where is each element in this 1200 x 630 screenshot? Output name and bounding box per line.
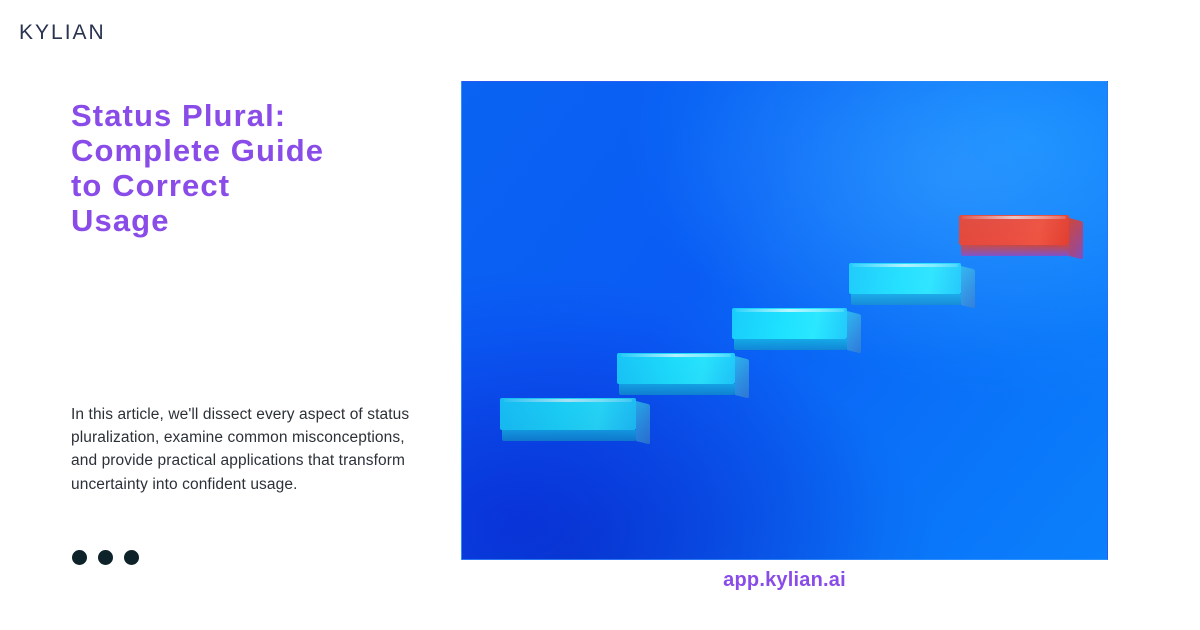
step-side-face (961, 266, 975, 308)
step-front-face (734, 339, 847, 350)
site-url-link[interactable]: app.kylian.ai (461, 567, 1108, 593)
dot-icon (72, 550, 87, 565)
step-front-face (961, 245, 1069, 256)
hero-image (461, 81, 1108, 560)
step-side-face (847, 311, 861, 353)
step-block-step-1 (500, 398, 636, 430)
dot-icon (98, 550, 113, 565)
step-front-face (851, 294, 961, 305)
step-block-step-5 (959, 215, 1069, 245)
step-top-face (849, 263, 961, 294)
step-top-face (500, 398, 636, 430)
step-top-face (617, 353, 735, 384)
decorative-dots (72, 550, 139, 565)
step-side-face (636, 401, 650, 444)
step-front-face (502, 430, 636, 441)
step-side-face (735, 356, 749, 398)
text-column: Status Plural: Complete Guide to Correct… (0, 0, 461, 630)
article-share-card: KYLIAN Status Plural: Complete Guide to … (0, 0, 1200, 630)
step-highlight (735, 309, 843, 312)
step-block-step-3 (732, 308, 847, 339)
page-title: Status Plural: Complete Guide to Correct… (71, 98, 401, 238)
step-block-step-4 (849, 263, 961, 294)
step-top-face (959, 215, 1069, 245)
step-side-face (1069, 218, 1083, 259)
step-highlight (852, 264, 957, 267)
step-block-step-2 (617, 353, 735, 384)
article-excerpt: In this article, we'll dissect every asp… (71, 403, 423, 496)
hero-image-container (461, 81, 1108, 560)
step-top-face (732, 308, 847, 339)
step-highlight (504, 399, 632, 402)
dot-icon (124, 550, 139, 565)
step-front-face (619, 384, 735, 395)
step-highlight (621, 354, 732, 357)
step-highlight (962, 216, 1065, 219)
